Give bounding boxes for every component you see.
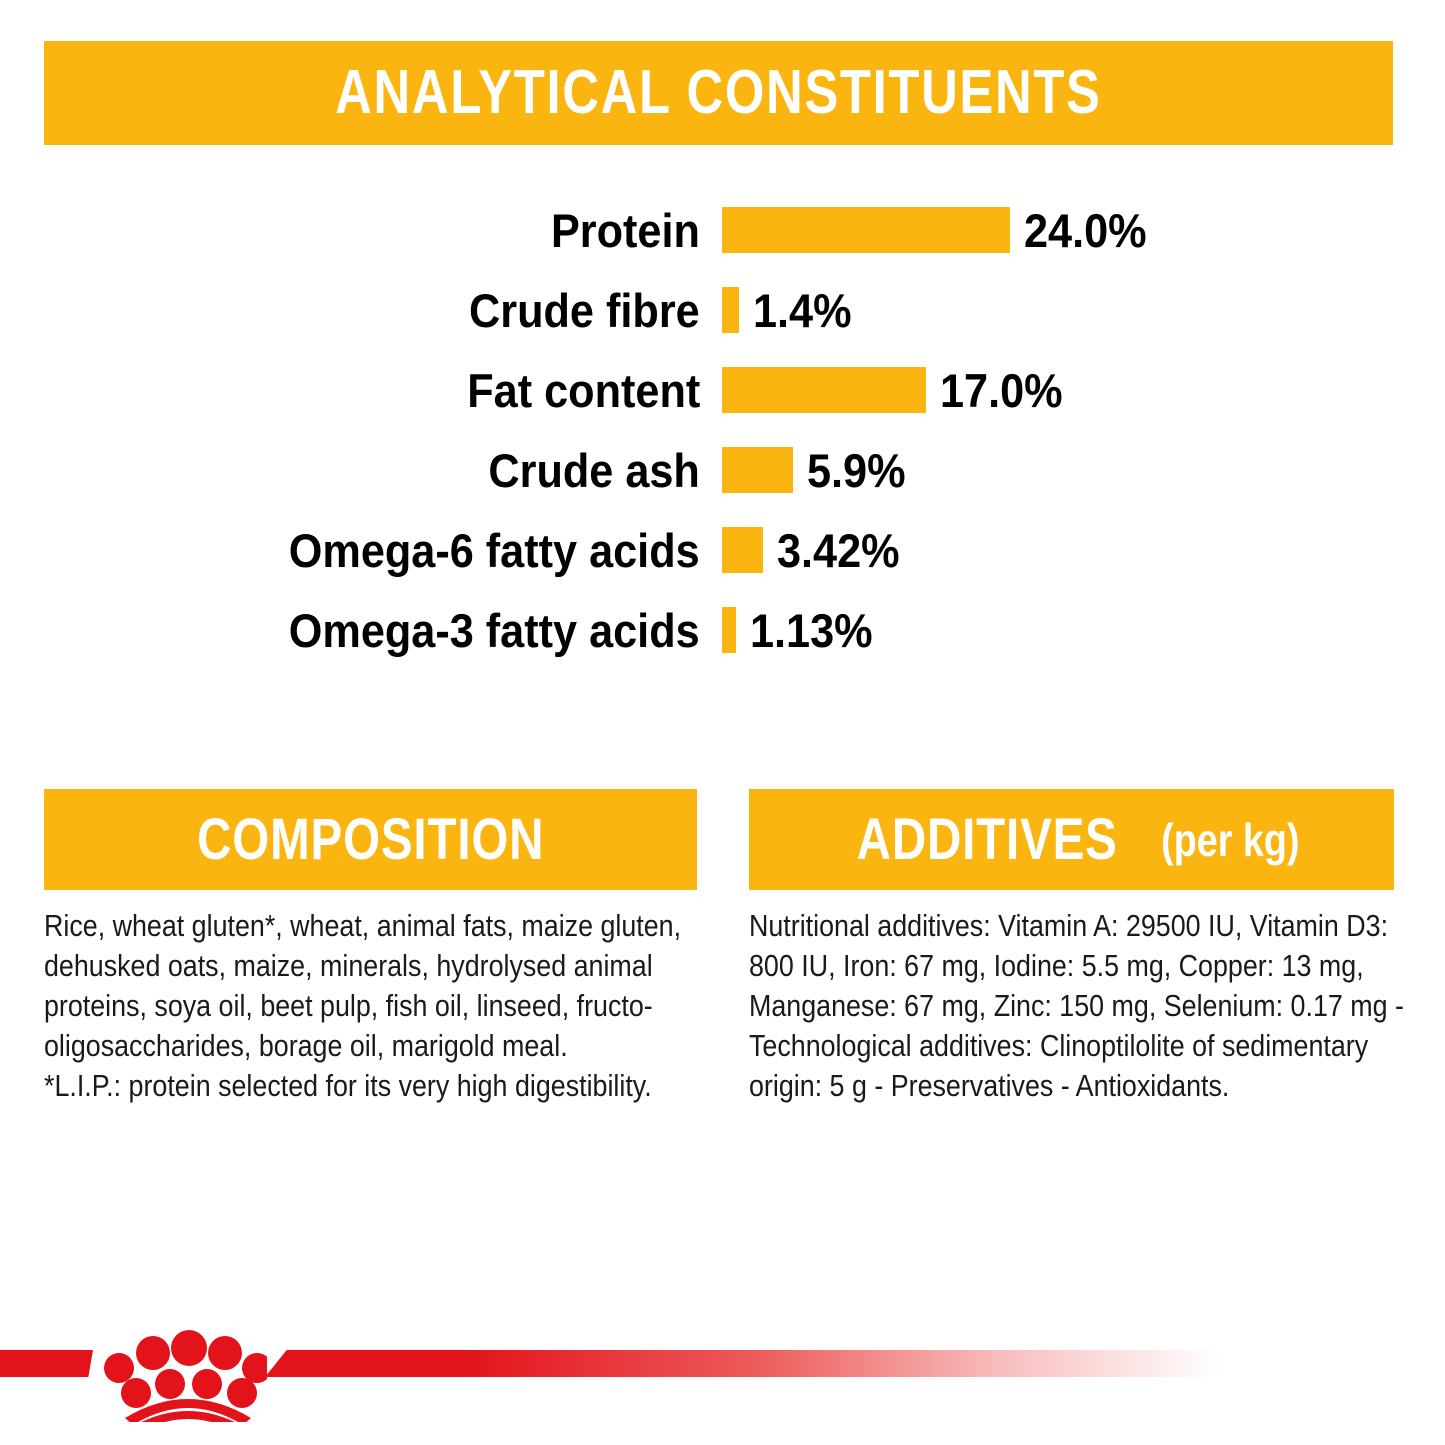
additives-subtitle: (per kg) [1162, 817, 1300, 863]
chart-row-label: Omega-6 fatty acids [289, 527, 700, 574]
analytical-constituents-header: ANALYTICAL CONSTITUENTS [44, 41, 1393, 145]
chart-row-label: Omega-3 fatty acids [289, 607, 700, 654]
analytical-constituents-title: ANALYTICAL CONSTITUENTS [335, 62, 1101, 124]
chart-row-bar [722, 287, 739, 333]
footer [0, 1300, 1445, 1445]
composition-title: COMPOSITION [197, 811, 544, 869]
chart-row-value: 17.0% [940, 367, 1063, 414]
chart-row-bar [722, 527, 763, 573]
chart-row: Crude fibre1.4% [0, 270, 1445, 350]
chart-row: Omega-6 fatty acids3.42% [0, 510, 1445, 590]
chart-row-value: 1.4% [753, 287, 852, 334]
chart-row: Omega-3 fatty acids1.13% [0, 590, 1445, 670]
chart-row-value: 5.9% [807, 447, 906, 494]
chart-row-label: Fat content [467, 367, 700, 414]
additives-body-text: Nutritional additives: Vitamin A: 29500 … [749, 907, 1427, 1107]
chart-row-bar [722, 207, 1010, 253]
chart-row-value: 3.42% [777, 527, 900, 574]
chart-row-value: 24.0% [1024, 207, 1147, 254]
footer-rule-right [265, 1350, 1350, 1377]
chart-row: Protein24.0% [0, 190, 1445, 270]
additives-title: ADDITIVES [857, 811, 1118, 869]
chart-row-bar [722, 447, 793, 493]
royal-canin-crown-icon [97, 1322, 267, 1422]
chart-row: Crude ash5.9% [0, 430, 1445, 510]
chart-row: Fat content17.0% [0, 350, 1445, 430]
chart-row-label: Crude ash [489, 447, 700, 494]
additives-header: ADDITIVES (per kg) [749, 789, 1394, 890]
chart-row-value: 1.13% [750, 607, 873, 654]
composition-header: COMPOSITION [44, 789, 697, 890]
nutrition-label-page: ANALYTICAL CONSTITUENTS Protein24.0%Crud… [0, 0, 1445, 1445]
composition-body-text: Rice, wheat gluten*, wheat, animal fats,… [44, 907, 691, 1107]
chart-row-label: Protein [551, 207, 700, 254]
analytical-constituents-chart: Protein24.0%Crude fibre1.4%Fat content17… [0, 190, 1445, 670]
chart-row-label: Crude fibre [469, 287, 700, 334]
chart-row-bar [722, 367, 926, 413]
footer-rule-left [0, 1350, 93, 1377]
chart-row-bar [722, 607, 736, 653]
